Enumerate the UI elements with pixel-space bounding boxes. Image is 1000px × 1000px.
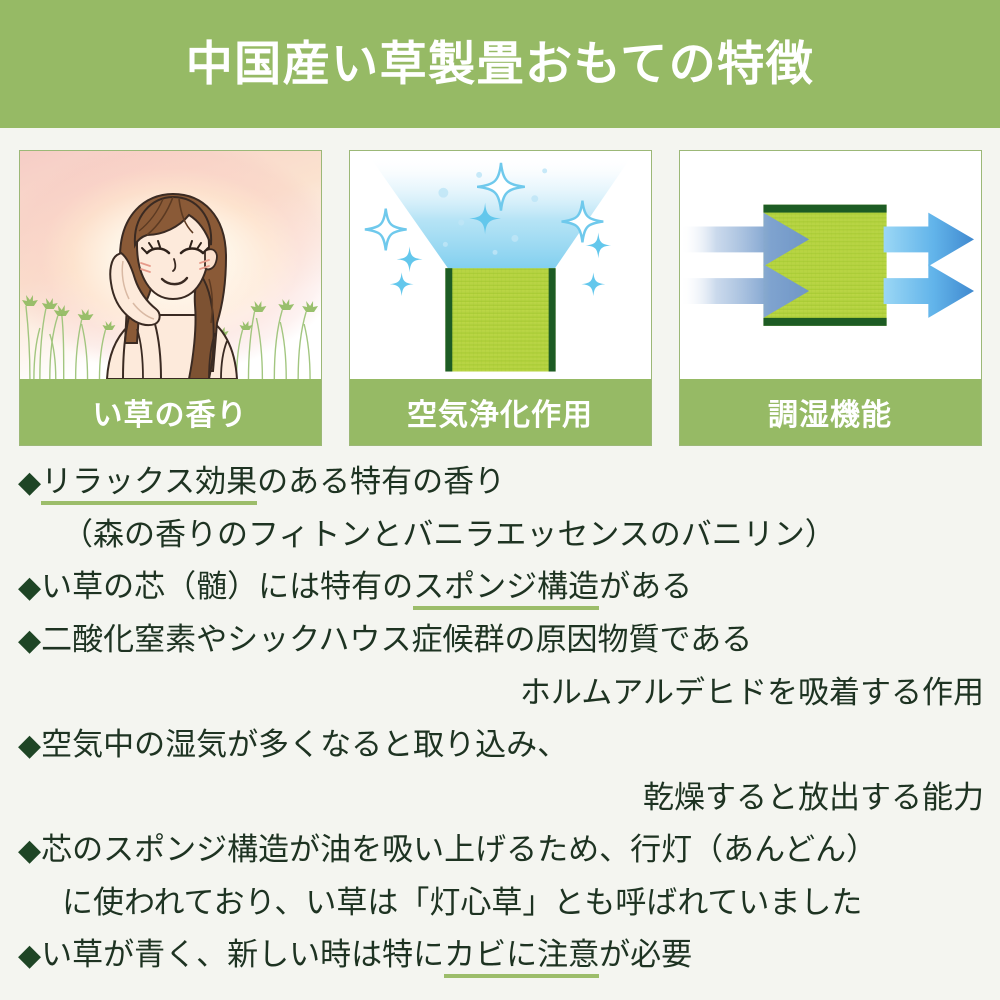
bullet-line-1: ◆リラックス効果のある特有の香り — [18, 456, 984, 509]
release-arrows — [883, 213, 973, 318]
feature-card-air-purification[interactable]: 空気浄化作用 — [349, 150, 652, 446]
bullet-line-8: ◆芯のスポンジ構造が油を吸い上げるため、行灯（あんどん） — [18, 824, 984, 877]
bullet-line-5: ホルムアルデヒドを吸着する作用 — [18, 667, 984, 719]
bullet-line-1-rest: のある特有の香り — [257, 464, 505, 500]
bullet-line-6-text: 空気中の湿気が多くなると取り込み、 — [41, 727, 568, 763]
bullet-line-3-pre: い草の芯（髄）には特有の — [41, 569, 413, 605]
highlight-mold-caution: カビに注意 — [444, 937, 599, 978]
bullet-line-4: ◆二酸化窒素やシックハウス症候群の原因物質である — [18, 614, 984, 667]
bullet-line-8-text: 芯のスポンジ構造が油を吸い上げるため、行灯（あんどん） — [41, 832, 877, 868]
tatami-mat — [763, 205, 886, 326]
highlight-relax-effect: リラックス効果 — [41, 464, 257, 505]
bullet-line-3: ◆い草の芯（髄）には特有のスポンジ構造がある — [18, 561, 984, 614]
card-label-aroma: い草の香り — [20, 379, 321, 445]
airflow-mat-icon — [680, 151, 981, 379]
bullet-marker: ◆ — [18, 833, 41, 868]
bullet-marker: ◆ — [18, 465, 41, 500]
bullet-line-3-post: がある — [599, 569, 692, 605]
header-banner: 中国産い草製畳おもての特徴 — [0, 0, 1000, 128]
bullet-line-10-pre: い草が青く、新しい時は特に — [41, 937, 444, 973]
bullet-marker: ◆ — [18, 728, 41, 763]
feature-card-humidity-control[interactable]: 調湿機能 — [679, 150, 982, 446]
feature-description-list: ◆リラックス効果のある特有の香り （森の香りのフィトンとバニラエッセンスのバニリ… — [0, 456, 1000, 982]
page-title: 中国産い草製畳おもての特徴 — [186, 41, 815, 88]
sparkle-mat-icon — [350, 151, 651, 379]
aroma-illustration — [20, 151, 321, 379]
bullet-marker: ◆ — [18, 570, 41, 605]
bullet-line-7: 乾燥すると放出する能力 — [18, 772, 984, 824]
bullet-line-4-text: 二酸化窒素やシックハウス症候群の原因物質である — [41, 622, 752, 658]
bullet-marker: ◆ — [18, 623, 41, 658]
bullet-marker: ◆ — [18, 938, 41, 973]
highlight-sponge-structure: スポンジ構造 — [413, 569, 599, 610]
humidity-control-illustration — [680, 151, 981, 379]
woman-relaxing-icon — [63, 183, 277, 379]
feature-card-aroma[interactable]: い草の香り — [19, 150, 322, 446]
tatami-mat — [445, 268, 555, 371]
air-purification-illustration — [350, 151, 651, 379]
bullet-line-6: ◆空気中の湿気が多くなると取り込み、 — [18, 719, 984, 772]
bullet-line-9: に使われており、い草は「灯心草」とも呼ばれていました — [18, 877, 984, 929]
bullet-line-10: ◆い草が青く、新しい時は特にカビに注意が必要 — [18, 929, 984, 982]
bullet-line-2: （森の香りのフィトンとバニラエッセンスのバニリン） — [18, 509, 984, 561]
card-label-air-purification: 空気浄化作用 — [350, 379, 651, 445]
bullet-line-10-post: が必要 — [599, 937, 692, 973]
feature-cards-row: い草の香り — [0, 150, 1000, 446]
card-label-humidity-control: 調湿機能 — [680, 379, 981, 445]
